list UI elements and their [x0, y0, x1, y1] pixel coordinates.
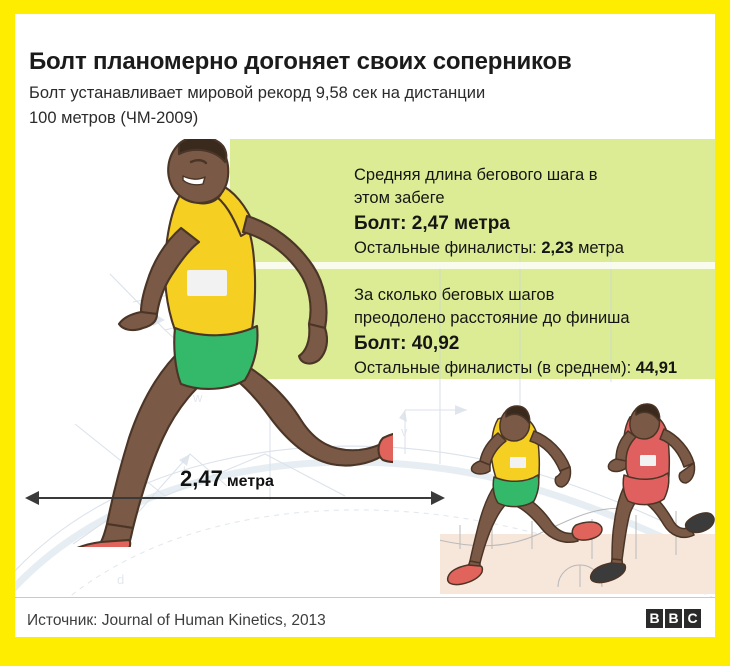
stride-measurement-label: 2,47метра [180, 466, 274, 492]
fact2-others-value: 44,91 [636, 359, 677, 377]
subtitle-line-2: 100 метров (ЧМ-2009) [29, 106, 559, 131]
bbc-logo: B B C [646, 609, 701, 628]
fact-stride-count: За сколько беговых шагов преодолено расс… [354, 284, 677, 380]
fact2-bolt-label: Болт: [354, 333, 407, 354]
page-title: Болт планомерно догоняет своих сопернико… [29, 48, 572, 76]
svg-text:v: v [401, 424, 408, 439]
fact1-heading-line1: Средняя длина бегового шага в [354, 164, 624, 187]
fact2-others-row: Остальные финалисты (в среднем): 44,91 [354, 357, 677, 380]
page-subtitle: Болт устанавливает мировой рекорд 9,58 с… [29, 81, 559, 131]
fact2-bolt-value: 40,92 [412, 333, 460, 354]
bbc-logo-letter-3: C [684, 609, 701, 628]
stride-measurement-value: 2,47 [180, 466, 223, 491]
fact1-bolt-row: Болт: 2,47 метра [354, 210, 624, 237]
stride-measurement-arrow: 2,47метра [25, 497, 445, 499]
fact-stride-length: Средняя длина бегового шага в этом забег… [354, 164, 624, 260]
fact1-others-label: Остальные финалисты: [354, 239, 537, 257]
bbc-logo-letter-1: B [646, 609, 663, 628]
fact2-heading-line2: преодолено расстояние до финиша [354, 307, 677, 330]
bbc-logo-letter-2: B [665, 609, 682, 628]
fact2-others-label: Остальные финалисты (в среднем): [354, 359, 631, 377]
source-credit: Источник: Journal of Human Kinetics, 201… [27, 612, 326, 630]
fact2-heading-line1: За сколько беговых шагов [354, 284, 677, 307]
header-block: Болт планомерно догоняет своих сопернико… [15, 14, 715, 139]
footer-divider [15, 597, 715, 598]
fact2-bolt-row: Болт: 40,92 [354, 330, 677, 357]
arrow-bar [37, 497, 433, 499]
svg-text:d: d [117, 572, 124, 587]
fact1-bolt-value: 2,47 метра [412, 213, 510, 234]
infographic-canvas: w s l v d Болт планомерно догоняет своих… [15, 14, 715, 637]
fact1-heading-line2: этом забеге [354, 187, 624, 210]
infographic-root: w s l v d Болт планомерно догоняет своих… [0, 0, 730, 666]
mini-runners-comparison [440, 399, 715, 594]
subtitle-line-1: Болт устанавливает мировой рекорд 9,58 с… [29, 81, 559, 106]
fact1-others-row: Остальные финалисты: 2,23 метра [354, 237, 624, 260]
fact1-others-value: 2,23 [541, 239, 573, 257]
fact1-others-unit: метра [578, 239, 624, 257]
arrow-head-right-icon [431, 491, 445, 505]
stride-measurement-unit: метра [227, 473, 274, 490]
fact1-bolt-label: Болт: [354, 213, 407, 234]
